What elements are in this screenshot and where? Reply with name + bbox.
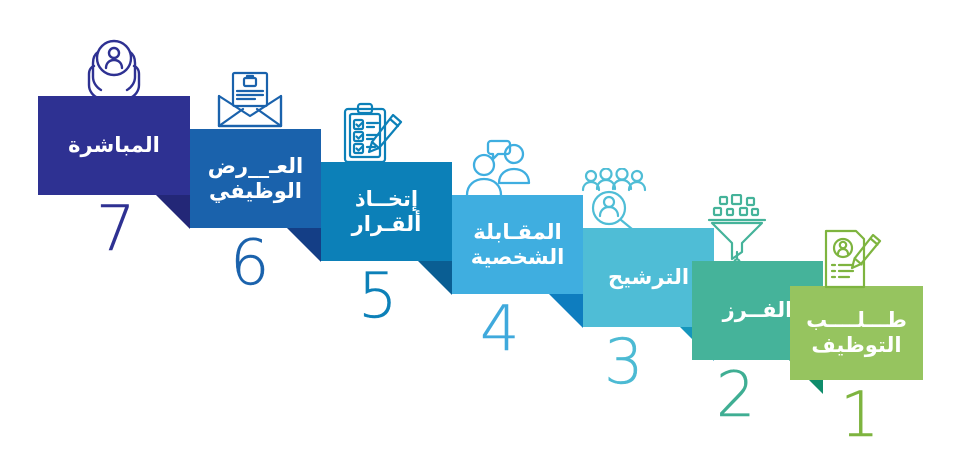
step-1-label-line1: طـــلــــب: [806, 308, 907, 332]
interview-icon: [462, 138, 536, 196]
step-4-number: 4: [480, 298, 519, 360]
step-2-number: 2: [716, 364, 755, 426]
step-5-fold: [418, 261, 452, 295]
step-4-label-line1: المقـابلة: [473, 220, 562, 244]
step-3-label: الترشيح: [600, 265, 697, 290]
step-1-label: طـــلــــبالتوظيف: [798, 308, 915, 358]
step-7-number: 7: [96, 198, 135, 260]
step-2-label: الفــرز: [715, 298, 801, 323]
funnel-filter-icon: [706, 194, 768, 264]
step-7-fold: [156, 195, 190, 229]
step-1-label-line2: التوظيف: [811, 333, 901, 357]
step-5-card[interactable]: إتخــاذألقـرار: [321, 162, 452, 261]
hands-holding-person-icon: [78, 38, 150, 100]
step-5-label-line1: إتخــاذ: [355, 187, 418, 211]
step-4-label: المقـابلةالشخصية: [463, 220, 573, 270]
checklist-pencil-icon: [338, 101, 404, 165]
step-5-label-line2: ألقـرار: [352, 212, 422, 236]
step-6-label-line1: العـ__رض: [208, 154, 303, 178]
step-6-label: العـ__رضالوظيفي: [200, 154, 311, 204]
step-7-label: المباشرة: [60, 133, 168, 158]
step-6-label-line2: الوظيفي: [209, 179, 302, 203]
document-pencil-icon: [818, 228, 884, 290]
step-5-number: 5: [358, 265, 397, 327]
step-4-card[interactable]: المقـابلةالشخصية: [452, 195, 583, 294]
step-6-number: 6: [230, 232, 269, 294]
people-search-icon: [578, 168, 650, 230]
recruitment-process-infographic: المباشرة 7 العـ__رضالوظيفي: [0, 0, 957, 476]
step-5-label: إتخــاذألقـرار: [344, 187, 430, 237]
step-7-card[interactable]: المباشرة: [38, 96, 190, 195]
step-1-number: 1: [840, 384, 879, 446]
step-1-card[interactable]: طـــلــــبالتوظيف: [790, 286, 923, 380]
step-3-number: 3: [604, 331, 643, 393]
step-6-fold: [287, 228, 321, 262]
step-4-label-line2: الشخصية: [471, 245, 565, 269]
envelope-briefcase-icon: [216, 70, 284, 132]
step-6-card[interactable]: العـ__رضالوظيفي: [190, 129, 321, 228]
step-4-fold: [549, 294, 583, 328]
